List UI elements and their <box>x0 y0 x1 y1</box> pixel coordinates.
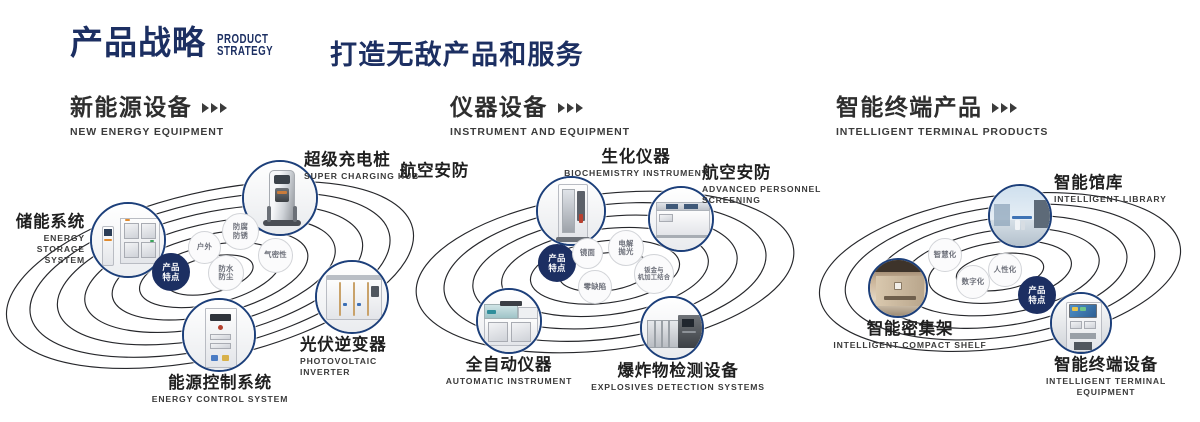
node-intelligent-library[interactable] <box>988 184 1052 248</box>
caption-en: INTELLIGENT COMPACT SHELF <box>830 340 990 351</box>
caption-explosives-detection: 爆炸物检测设备 EXPLOSIVES DETECTION SYSTEMS <box>588 362 768 393</box>
compact-shelf-icon <box>870 260 926 316</box>
node-energy-control-system[interactable] <box>182 298 256 372</box>
badge-line1: 产品 <box>548 253 565 263</box>
feature-bubble-sheetmetal-machining: 钣金与机加工结合 <box>634 254 674 294</box>
infographic-page: 产品战略 PRODUCT STRATEGY 打造无敌产品和服务 新能源设备 NE… <box>0 0 1200 422</box>
feature-bubble-airtight: 气密性 <box>258 238 293 273</box>
feature-bubble-waterproof: 防水防尘 <box>208 255 244 291</box>
feature-label: 智慧化 <box>934 251 957 259</box>
caption-energy-storage: 储能系统 ENERGY STORAGE SYSTEM <box>0 213 85 266</box>
control-cabinet-icon <box>184 300 254 370</box>
caption-cn: 智能馆库 <box>1054 174 1184 192</box>
caption-energy-control-system: 能源控制系统 ENERGY CONTROL SYSTEM <box>110 374 330 405</box>
section-title-en: INSTRUMENT AND EQUIPMENT <box>450 126 630 138</box>
caption-en: BIOCHEMISTRY INSTRUMENT <box>556 168 716 179</box>
node-photovoltaic-inverter[interactable] <box>315 260 389 334</box>
feature-label: 数字化 <box>962 278 985 286</box>
feature-bubble-mirror: 镜面 <box>572 238 603 269</box>
detection-rack-icon <box>642 298 702 358</box>
caption-cn: 智能终端设备 <box>1016 356 1196 374</box>
feature-label: 零缺陷 <box>584 283 607 291</box>
badge-line1: 产品 <box>162 262 179 272</box>
feature-label: 防水防尘 <box>218 265 233 282</box>
caption-terminal-equipment: 智能终端设备 INTELLIGENT TERMINAL EQUIPMENT <box>1016 356 1196 398</box>
caption-biochemistry-instrument: 生化仪器 BIOCHEMISTRY INSTRUMENT <box>556 148 716 179</box>
caption-cn: 能源控制系统 <box>110 374 330 392</box>
chevron-right-icon <box>202 103 227 113</box>
caption-en: EXPLOSIVES DETECTION SYSTEMS <box>588 382 768 393</box>
caption-cn: 储能系统 <box>0 213 85 231</box>
chevron-right-icon <box>558 103 583 113</box>
badge-line2: 特点 <box>1028 295 1045 305</box>
caption-en: INTELLIGENT LIBRARY <box>1054 194 1184 205</box>
caption-cn: 生化仪器 <box>556 148 716 166</box>
inverter-cabinet-icon <box>317 262 387 332</box>
library-hall-icon <box>990 186 1050 246</box>
section-title-new-energy: 新能源设备 NEW ENERGY EQUIPMENT <box>70 96 227 138</box>
section-title-cn: 智能终端产品 <box>836 96 982 119</box>
node-terminal-equipment[interactable] <box>1050 292 1112 354</box>
caption-cn: 智能密集架 <box>830 320 990 338</box>
caption-en: ENERGY CONTROL SYSTEM <box>110 394 330 405</box>
feature-bubble-digital: 数字化 <box>956 265 990 299</box>
badge-line2: 特点 <box>162 272 179 282</box>
section-title-en: NEW ENERGY EQUIPMENT <box>70 126 227 138</box>
cluster-new-energy: 储能系统 ENERGY STORAGE SYSTEM 超级充电桩 SUPER C… <box>0 150 420 400</box>
caption-cn: 全自动仪器 <box>424 356 594 374</box>
section-title-en: INTELLIGENT TERMINAL PRODUCTS <box>836 126 1048 138</box>
center-badge-product-features: 产品 特点 <box>1018 276 1056 314</box>
node-automatic-instrument[interactable] <box>476 288 542 354</box>
feature-label: 气密性 <box>264 251 287 259</box>
caption-en: INTELLIGENT TERMINAL EQUIPMENT <box>1016 376 1196 398</box>
caption-en: ENERGY STORAGE SYSTEM <box>0 233 85 266</box>
feature-bubble-smart: 智慧化 <box>928 238 962 272</box>
caption-cn: 爆炸物检测设备 <box>588 362 768 380</box>
page-slogan: 打造无敌产品和服务 <box>330 33 584 72</box>
section-title-cn: 新能源设备 <box>70 96 192 119</box>
feature-label: 防腐防锈 <box>233 223 248 240</box>
caption-intelligent-library: 智能馆库 INTELLIGENT LIBRARY <box>1054 174 1184 205</box>
page-title-en: PRODUCT STRATEGY <box>217 33 273 57</box>
chevron-right-icon <box>992 103 1017 113</box>
feature-label: 户外 <box>197 243 212 251</box>
feature-bubble-anticorrosion: 防腐防锈 <box>222 213 259 250</box>
section-title-intelligent-terminal: 智能终端产品 INTELLIGENT TERMINAL PRODUCTS <box>836 96 1048 138</box>
page-title-en-line2: STRATEGY <box>217 45 273 57</box>
biochem-scanner-icon <box>538 178 604 244</box>
section-title-cn: 仪器设备 <box>450 96 548 119</box>
cluster-intelligent-terminal: 智能馆库 INTELLIGENT LIBRARY 智能密集架 INTELLIGE… <box>800 150 1200 400</box>
feature-label: 镜面 <box>580 249 595 257</box>
feature-bubble-zero-defect: 零缺陷 <box>578 270 612 304</box>
caption-en: AUTOMATIC INSTRUMENT <box>424 376 594 387</box>
caption-automatic-instrument: 全自动仪器 AUTOMATIC INSTRUMENT <box>424 356 594 387</box>
automatic-analyzer-icon <box>478 290 540 352</box>
feature-bubble-humanized: 人性化 <box>988 253 1022 287</box>
caption-compact-shelf: 智能密集架 INTELLIGENT COMPACT SHELF <box>830 320 990 351</box>
badge-line1: 产品 <box>1028 285 1045 295</box>
feature-label: 电解抛光 <box>618 240 633 257</box>
node-compact-shelf[interactable] <box>868 258 928 318</box>
page-title: 产品战略 PRODUCT STRATEGY <box>70 26 289 59</box>
caption-cn: 航空安防 <box>395 162 469 180</box>
feature-label: 人性化 <box>994 266 1017 274</box>
page-title-cn: 产品战略 <box>70 26 206 59</box>
node-biochemistry-instrument[interactable] <box>536 176 606 246</box>
section-title-instrument: 仪器设备 INSTRUMENT AND EQUIPMENT <box>450 96 630 138</box>
center-badge-product-features: 产品 特点 <box>152 253 190 291</box>
caption-aviation-security: 航空安防 <box>395 162 469 180</box>
badge-line2: 特点 <box>548 263 565 273</box>
node-explosives-detection[interactable] <box>640 296 704 360</box>
kiosk-terminal-icon <box>1052 294 1110 352</box>
feature-label: 钣金与机加工结合 <box>638 267 670 281</box>
cluster-instrument: 生化仪器 BIOCHEMISTRY INSTRUMENT 航空安防 航空安防 A… <box>400 150 820 400</box>
center-badge-product-features: 产品 特点 <box>538 244 576 282</box>
